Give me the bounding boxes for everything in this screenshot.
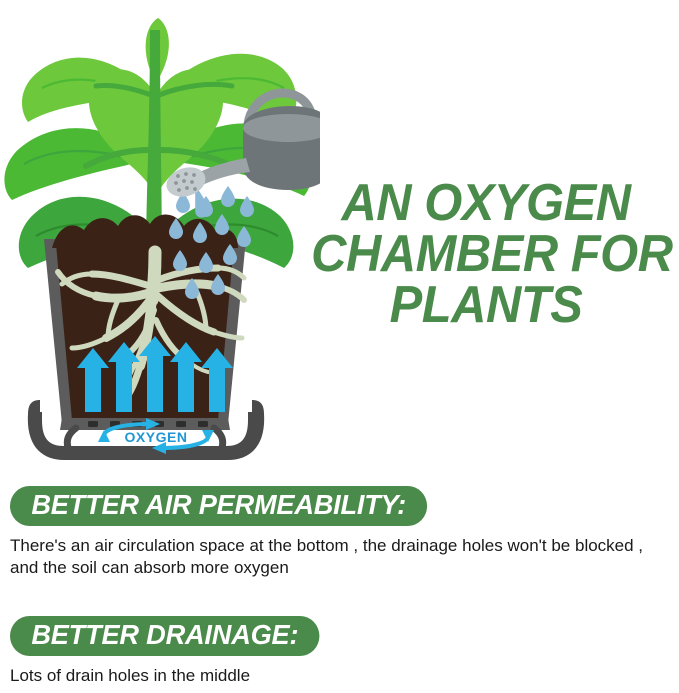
headline-line-3: PLANTS bbox=[311, 280, 661, 331]
page-title: AN OXYGEN CHAMBER FOR PLANTS bbox=[311, 178, 661, 331]
section-body-air-permeability: There's an air circulation space at the … bbox=[10, 535, 650, 579]
plant-pot-illustration: OXYGEN bbox=[0, 0, 320, 480]
section-drainage: BETTER DRAINAGE: Lots of drain holes in … bbox=[0, 616, 679, 687]
headline-line-1: AN OXYGEN bbox=[311, 178, 661, 229]
section-heading-drainage: BETTER DRAINAGE: bbox=[10, 616, 320, 656]
section-heading-air-permeability: BETTER AIR PERMEABILITY: bbox=[10, 486, 427, 526]
oxygen-label: OXYGEN bbox=[125, 429, 188, 445]
watering-can-rose-holes bbox=[174, 172, 197, 192]
section-air-permeability: BETTER AIR PERMEABILITY: There's an air … bbox=[0, 486, 679, 579]
pot-outer-tray-left-wall bbox=[28, 400, 40, 414]
section-body-drainage: Lots of drain holes in the middle bbox=[10, 665, 650, 687]
headline-line-2: CHAMBER FOR bbox=[311, 229, 661, 280]
pot-outer-tray-right-wall bbox=[252, 400, 264, 414]
